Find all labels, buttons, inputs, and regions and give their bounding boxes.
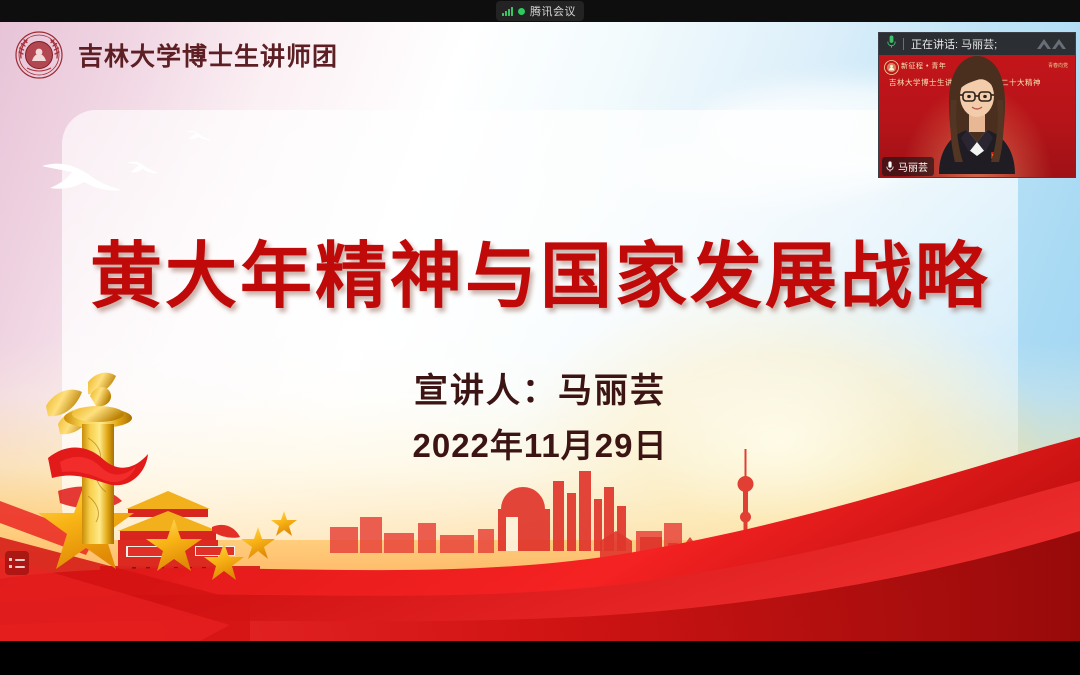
slide-title: 黄大年精神与国家发展战略 bbox=[0, 217, 1080, 322]
green-status-dot bbox=[518, 8, 525, 15]
bottom-letterbox-bar bbox=[0, 641, 1080, 675]
golden-huabiao-column-icon bbox=[30, 366, 170, 551]
system-top-bar: 腾讯会议 bbox=[0, 0, 1080, 22]
list-menu-icon[interactable] bbox=[5, 551, 29, 575]
flying-dove-icon bbox=[38, 150, 130, 196]
flying-dove-icon bbox=[126, 157, 160, 175]
participant-name-badge: 马丽芸 bbox=[882, 157, 934, 176]
backdrop-line-right: 青春向党 bbox=[1048, 62, 1068, 69]
meeting-app-label: 腾讯会议 bbox=[530, 3, 576, 19]
video-feed: 新征程 • 青年 吉林大学博士生讲师团宣讲党的二十大精神 青春向党 bbox=[879, 55, 1075, 178]
tencent-meeting-logo-icon bbox=[1035, 37, 1069, 51]
divider bbox=[903, 38, 904, 50]
video-pip-panel[interactable]: 正在讲话: 马丽芸; 新征程 • 青年 吉林大学博士生讲师团宣讲党的二十大精神 … bbox=[878, 32, 1076, 178]
microphone-icon bbox=[887, 35, 896, 53]
participant-name: 马丽芸 bbox=[898, 159, 928, 174]
jilin-university-emblem-icon bbox=[14, 30, 64, 80]
slide-bottom-artwork bbox=[0, 341, 1080, 641]
video-pip-header: 正在讲话: 马丽芸; bbox=[879, 33, 1075, 55]
signal-bars-icon bbox=[502, 7, 513, 16]
meeting-status-pill[interactable]: 腾讯会议 bbox=[496, 1, 584, 21]
speaking-status-label: 正在讲话: 马丽芸; bbox=[911, 36, 997, 52]
speaker-video-image bbox=[929, 55, 1025, 178]
organization-name: 吉林大学博士生讲师团 bbox=[78, 37, 338, 73]
microphone-icon bbox=[886, 161, 894, 172]
flying-dove-icon bbox=[185, 127, 213, 142]
slide-header: 吉林大学博士生讲师团 bbox=[14, 30, 338, 80]
